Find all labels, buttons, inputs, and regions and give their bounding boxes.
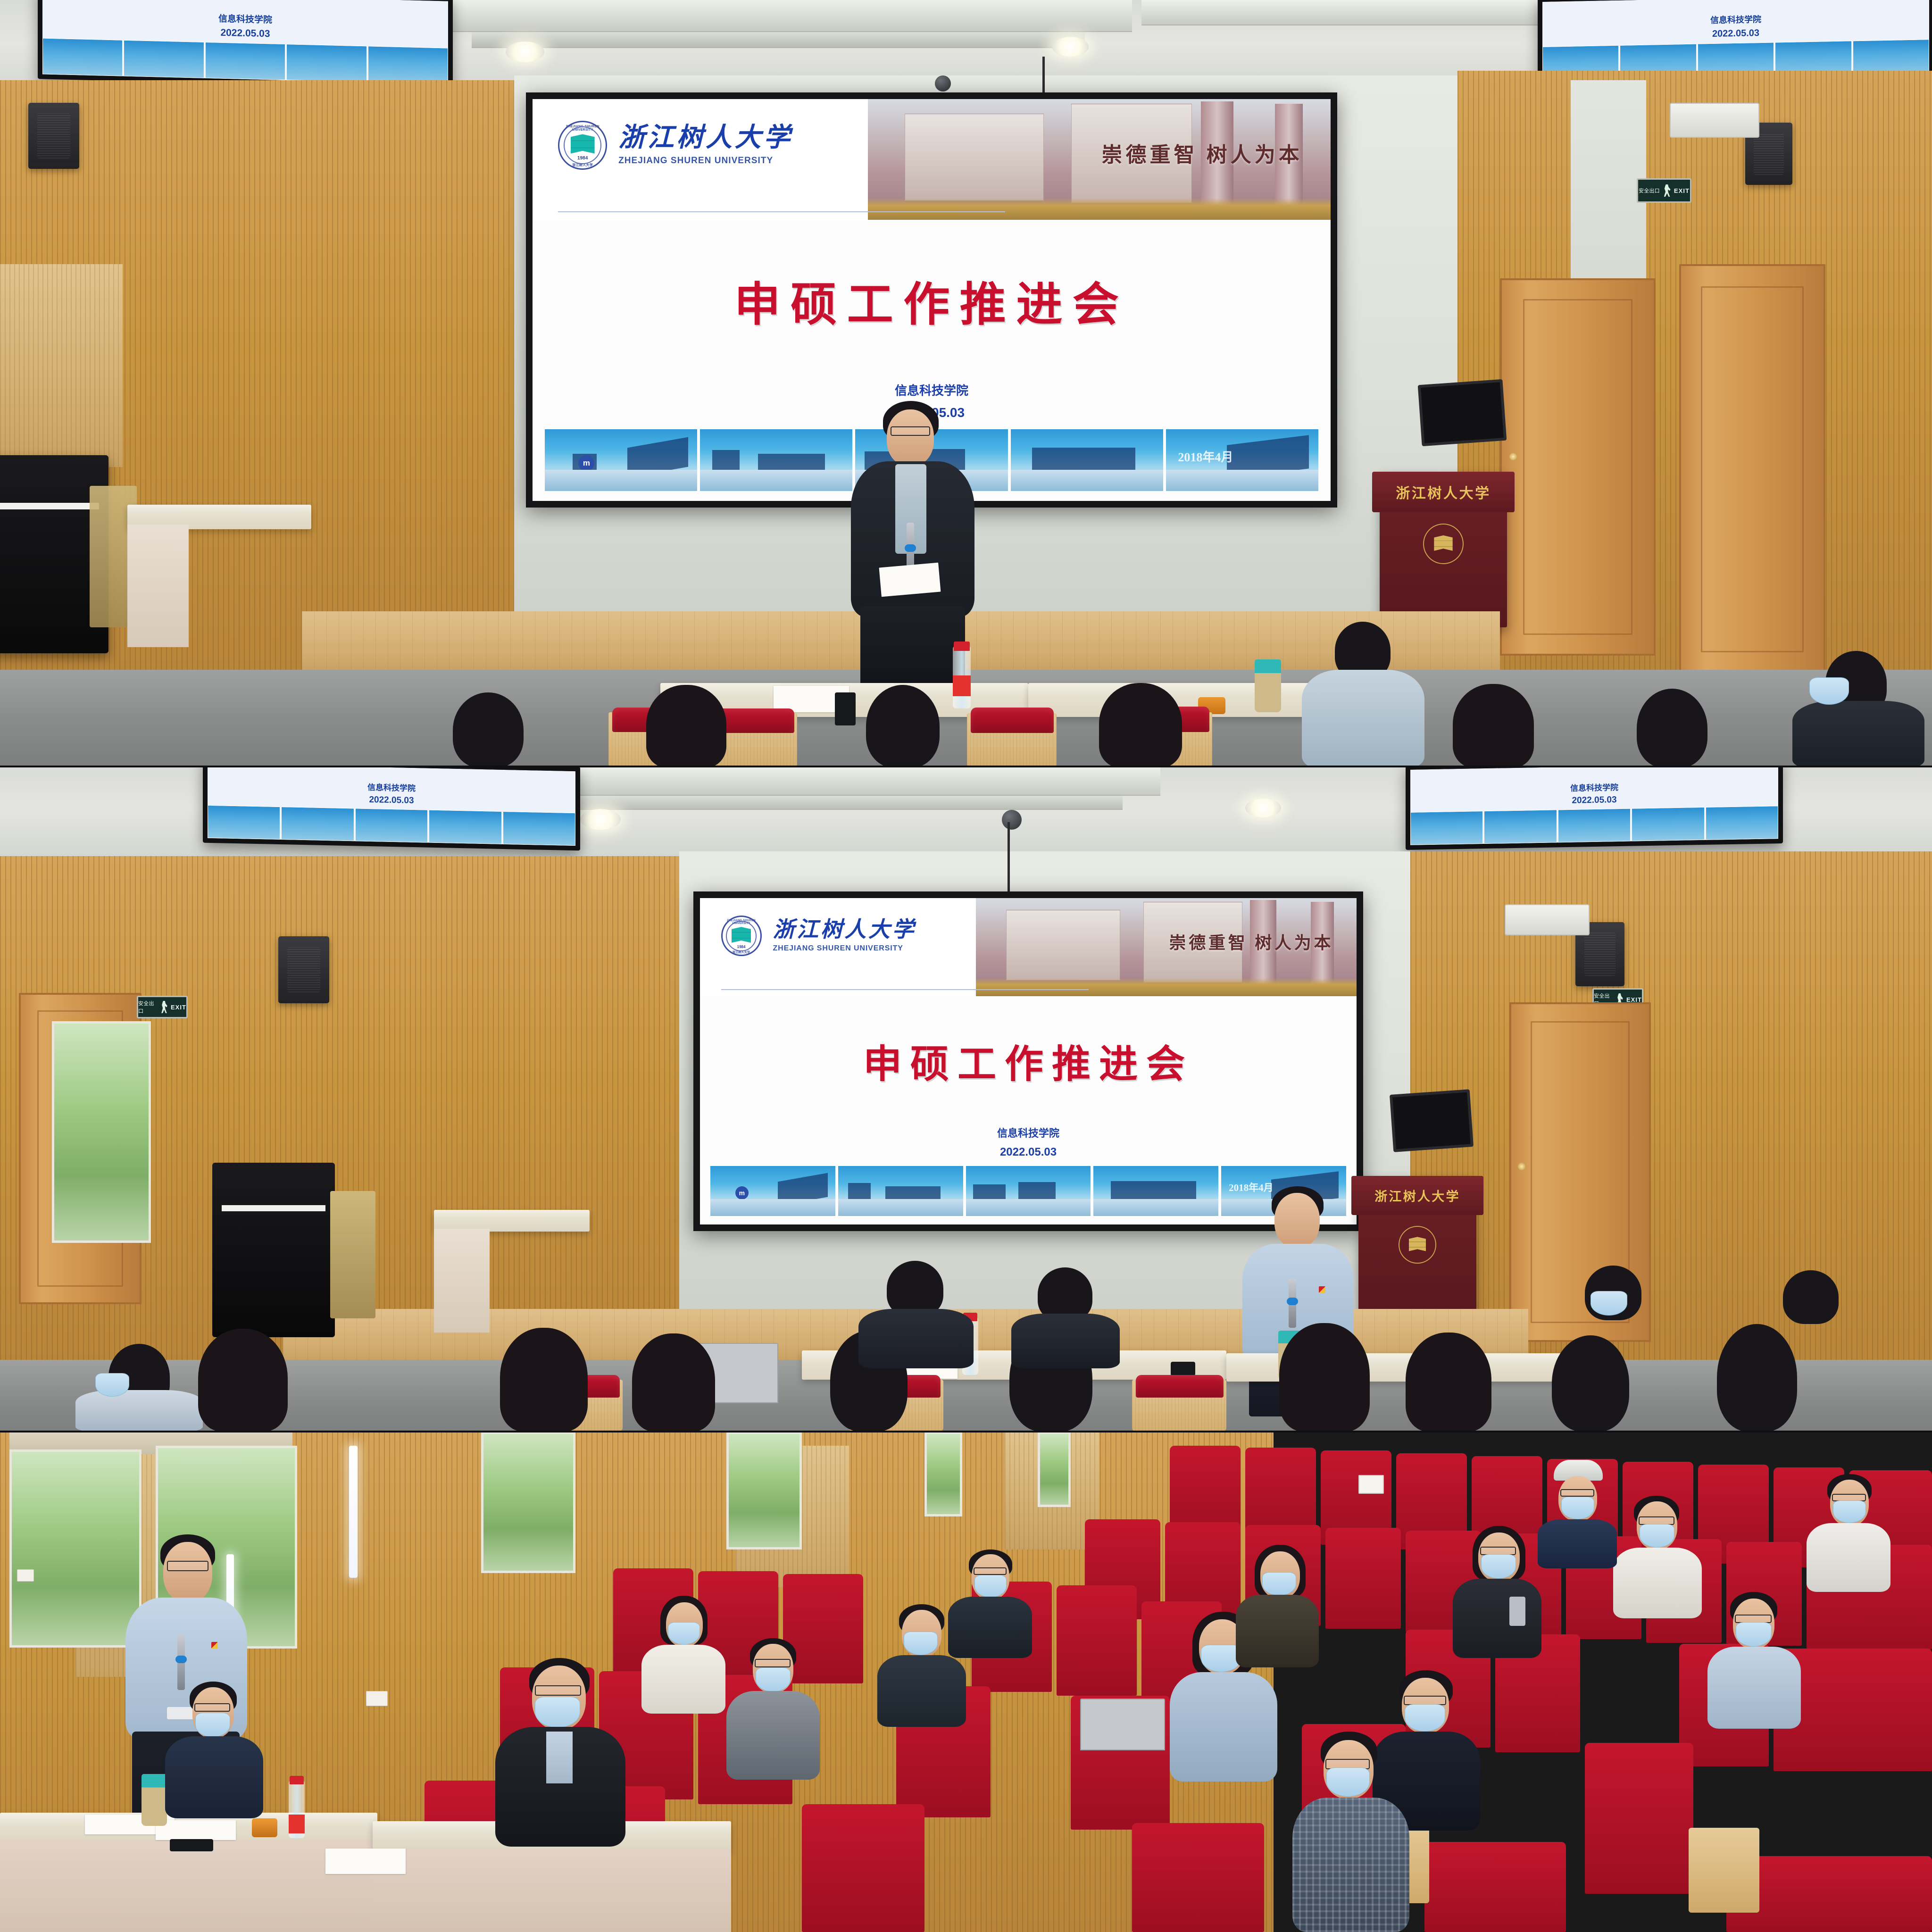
wall-outlet [366,1691,388,1706]
face-mask [1262,1572,1296,1596]
exit-sign-left: 安全出口 EXIT [137,996,188,1018]
attendee [1538,1460,1618,1568]
exit-sign-zh: 安全出口 [138,999,158,1015]
podium-monitor [1418,379,1507,446]
overhead-monitor-slide: 信息科技学院 2022.05.03 [42,0,448,84]
podium-nameplate-text: 浙江树人大学 [1396,482,1491,502]
ceiling-light [1052,37,1089,57]
attendee-torso [75,1390,203,1432]
overhead-monitor-strip [1410,806,1778,845]
attendee-head [632,1333,715,1432]
door-knob [1509,453,1517,460]
attendee-desk-left [165,1682,264,1818]
face-mask [1809,677,1849,705]
notebook [325,1849,406,1874]
ceiling-light [580,809,621,830]
slide-title: 申硕工作推进会 [700,996,1357,1125]
piano-chair [330,1191,375,1318]
running-man-icon [160,1001,168,1013]
seat-front-row [1132,1823,1264,1932]
wall-notice-plate [1358,1475,1384,1494]
running-man-icon [1663,184,1671,197]
attendee-torso [948,1597,1032,1658]
piano-keys [0,503,99,509]
strip-photo [1010,429,1164,491]
slide: 崇德重智 树人为本 ZHEJIANG SHUREN UNIVERSITY 198… [700,898,1357,1224]
face-mask [95,1373,129,1397]
face-mask [1591,1291,1627,1316]
attendee-head [1453,684,1534,766]
header-rule [721,989,1089,990]
podium: 浙江树人大学 [1380,472,1507,627]
attendee-head [1717,1324,1797,1432]
front-desk-front [373,1849,731,1932]
attendee-torso [1011,1314,1120,1368]
logo-text-en: ZHEJIANG SHUREN UNIVERSITY [618,156,793,166]
overhead-monitor-right: 信息科技学院 2022.05.03 [1406,766,1783,850]
party-badge-pin [211,1642,218,1649]
glasses-icon [974,1567,1007,1575]
seat-front-row [802,1804,924,1932]
seat [1325,1528,1401,1629]
slide-header: 崇德重智 树人为本 ZHEJIANG SHUREN UNIVERSITY 198… [700,898,1357,996]
ac-vent [1670,103,1759,138]
face-mask [1481,1554,1516,1579]
slide-title: 申硕工作推进会 [533,220,1331,381]
metro-logo-icon: m [578,455,594,471]
attendee-head [1279,1323,1370,1432]
glasses-icon [1560,1489,1594,1497]
face-mask [195,1713,230,1737]
podium-emblem-icon [1399,1226,1436,1264]
strip-year-text: 2018年4月 [1178,448,1233,465]
attendee [1707,1592,1802,1729]
seat [1057,1585,1137,1696]
exit-sign-en: EXIT [171,1004,186,1011]
university-logo: ZHEJIANG SHUREN UNIVERSITY 1984 浙江树人大学 浙… [558,121,793,170]
overhead-monitor-slide: 信息科技学院 2022.05.03 [208,766,575,846]
slide-motto: 崇德重智 树人为本 [1169,929,1333,954]
attendee-torso [1302,670,1424,766]
attendee-torso [1613,1548,1702,1618]
wall-outlet [17,1569,34,1582]
seat-front-row [1424,1842,1566,1932]
attendee-head [646,685,726,766]
glasses-icon [167,1561,208,1571]
attendee-head [1406,1332,1491,1432]
attendee-head [887,1261,943,1316]
tumbler-cup [142,1774,167,1826]
attendee-head [500,1328,588,1432]
presenter-trousers [860,607,965,691]
strip-photo [1093,1166,1219,1216]
window [924,1432,962,1516]
strip-photo [966,1166,1091,1216]
attendee-torso [858,1309,974,1368]
presenter-head [1274,1193,1320,1248]
attendee-torso [1170,1672,1277,1782]
glasses-icon [194,1703,230,1712]
overhead-monitor-strip [208,805,575,846]
seat [971,708,1054,733]
face-mask [974,1575,1007,1598]
attendee [726,1638,821,1780]
podium-monitor [1390,1089,1474,1152]
slide-org: 信息科技学院 [533,381,1331,399]
university-seal-icon: ZHEJIANG SHUREN UNIVERSITY 1984 浙江树人大学 [721,916,762,956]
overhead-monitor-strip [42,38,448,84]
face-mask [1640,1524,1674,1548]
seal-arc-top: ZHEJIANG SHUREN UNIVERSITY [559,125,606,132]
presenter-head [887,409,934,466]
panel-middle: 信息科技学院 2022.05.03 信息科技学院 2022.05.03 安全出口… [0,766,1932,1432]
attendee-torso [1792,701,1924,766]
attendee-head [1552,1335,1629,1432]
face-mask [1405,1704,1445,1732]
attendee-torso [1538,1519,1617,1568]
podium-emblem-icon [1423,524,1464,564]
attendee [1807,1474,1891,1592]
attendee-torso [165,1736,263,1818]
smartphone [835,692,856,725]
strip-photo: m [544,429,698,491]
rolling-desk-side [127,525,189,647]
wood-panel-accent [0,264,123,467]
ceiling-beam [472,32,1085,48]
attendee [1236,1545,1321,1667]
ceiling-camera [1002,810,1022,830]
header-rule [558,211,1005,212]
university-seal-icon: ZHEJIANG SHUREN UNIVERSITY 1984 浙江树人大学 [558,121,607,170]
attendee-torso [1236,1595,1319,1667]
rolling-desk-side [434,1229,490,1332]
door-right [1500,278,1656,656]
podium: 浙江树人大学 [1358,1176,1476,1327]
attendee [1453,1526,1542,1658]
slide-date: 2022.05.03 [700,1146,1357,1159]
exit-sign-zh: 安全出口 [1639,187,1660,194]
wood-slat-wall-right [1410,851,1932,1370]
tumbler-cup [1255,659,1281,712]
seat-armrest [1689,1828,1759,1913]
piano [212,1163,335,1337]
seat [1136,1375,1224,1398]
door-knob [1518,1163,1525,1170]
attendee-head [198,1329,288,1432]
strip-photo [838,1166,964,1216]
logo-text-en: ZHEJIANG SHUREN UNIVERSITY [773,944,916,953]
ceiling-light [506,42,544,62]
attendee-head [1783,1270,1839,1324]
bottle-label [953,675,971,696]
attendee-torso [1707,1647,1801,1729]
ceiling-beam [425,0,1132,32]
presenter-head [163,1542,212,1602]
attendee-torso [1292,1798,1409,1932]
glasses-icon [535,1685,581,1696]
slide-motto: 崇德重智 树人为本 [1101,138,1302,168]
overhead-monitor-slide: 信息科技学院 2022.05.03 [1410,766,1778,845]
slide-header: 崇德重智 树人为本 ZHEJIANG SHUREN UNIVERSITY 198… [533,99,1331,220]
ceiling-light [1245,799,1281,817]
window [1038,1432,1071,1507]
attendee-head [1637,689,1707,766]
attendee-shirt [546,1732,573,1783]
overhead-monitor-slide: 信息科技学院 2022.05.03 [1542,0,1929,82]
attendee-head [866,685,940,766]
podium-nameplate: 浙江树人大学 [1372,472,1515,512]
podium-nameplate-text: 浙江树人大学 [1374,1186,1460,1205]
ac-vent [1505,904,1590,935]
podium-nameplate: 浙江树人大学 [1351,1176,1483,1215]
logo-text-cn: 浙江树人大学 [773,919,916,941]
panel-top: 信息科技学院 2022.05.03 信息科技学院 2022.05.03 安全出口… [0,0,1932,766]
handheld-microphone [1289,1279,1296,1328]
attendee-desk-right [495,1658,627,1847]
face-mask [1736,1622,1772,1647]
window [481,1432,575,1573]
face-mask [756,1667,791,1692]
attendee-torso [726,1691,820,1780]
exit-sign: 安全出口 EXIT [1637,178,1691,203]
ceiling-speaker-left [278,936,329,1003]
seal-arc-bottom: 浙江树人大学 [723,950,760,954]
bottle-cap [290,1776,304,1784]
logo-text-cn: 浙江树人大学 [618,125,793,151]
strip-photo: m [710,1166,836,1216]
ceiling-camera [935,75,951,92]
face-mask [904,1632,938,1655]
panel-seam [0,1431,1932,1432]
attendee [1292,1732,1410,1932]
smartphone [1509,1597,1525,1626]
overhead-monitor-left: 信息科技学院 2022.05.03 [203,766,580,850]
attendee-torso [877,1655,966,1727]
smartphone [170,1839,213,1851]
paper-sheet [156,1820,236,1840]
face-mask [535,1697,580,1728]
panel-bottom [0,1432,1932,1932]
glasses-icon [1404,1696,1446,1705]
seat [1585,1743,1693,1894]
attendee-torso [1807,1523,1890,1592]
face-mask [668,1622,700,1645]
seal-arc-bottom: 浙江树人大学 [559,163,606,167]
seal-arc-top: ZHEJIANG SHUREN UNIVERSITY [723,919,760,925]
metro-logo-icon: m [735,1186,749,1199]
seal-year: 1984 [723,945,760,949]
attendee-torso [641,1645,725,1714]
bottle-cap [954,641,970,651]
photo-collage: 信息科技学院 2022.05.03 信息科技学院 2022.05.03 安全出口… [0,0,1932,1932]
attendee-head [1038,1267,1092,1321]
window-left [52,1021,151,1243]
strip-photo [700,429,853,491]
front-desk-front [0,1840,377,1932]
attendee-head [453,692,524,766]
university-logo: ZHEJIANG SHUREN UNIVERSITY 1984 浙江树人大学 浙… [721,916,916,956]
ceiling-speaker-left [28,103,79,169]
bottle-label [289,1815,305,1833]
snack-item [252,1818,277,1837]
piano-keys [222,1205,325,1211]
slide-org: 信息科技学院 [700,1125,1357,1140]
attendee-torso [1453,1579,1541,1658]
attendee-head [1099,683,1182,766]
window [726,1432,802,1549]
tube-light [349,1446,358,1578]
strip-photo: 2018年4月 [1166,429,1319,491]
seal-year: 1984 [559,156,606,161]
face-mask [1561,1497,1594,1519]
exit-sign-en: EXIT [1674,187,1690,194]
panel-seam [0,766,1932,767]
presenter-papers [879,563,941,597]
attendee [1613,1496,1703,1618]
face-mask [1833,1500,1866,1523]
door-right-2 [1679,264,1825,675]
overhead-monitor-left: 信息科技学院 2022.05.03 [38,0,453,89]
glasses-icon [891,426,930,436]
attendee [641,1596,726,1714]
smartphone [1171,1362,1195,1376]
laptop [1080,1699,1165,1750]
party-badge-pin [1319,1286,1325,1293]
attendee [948,1549,1033,1658]
projection-screen: 崇德重智 树人为本 ZHEJIANG SHUREN UNIVERSITY 198… [693,891,1363,1231]
glasses-icon [755,1659,791,1667]
face-mask [1326,1767,1370,1797]
